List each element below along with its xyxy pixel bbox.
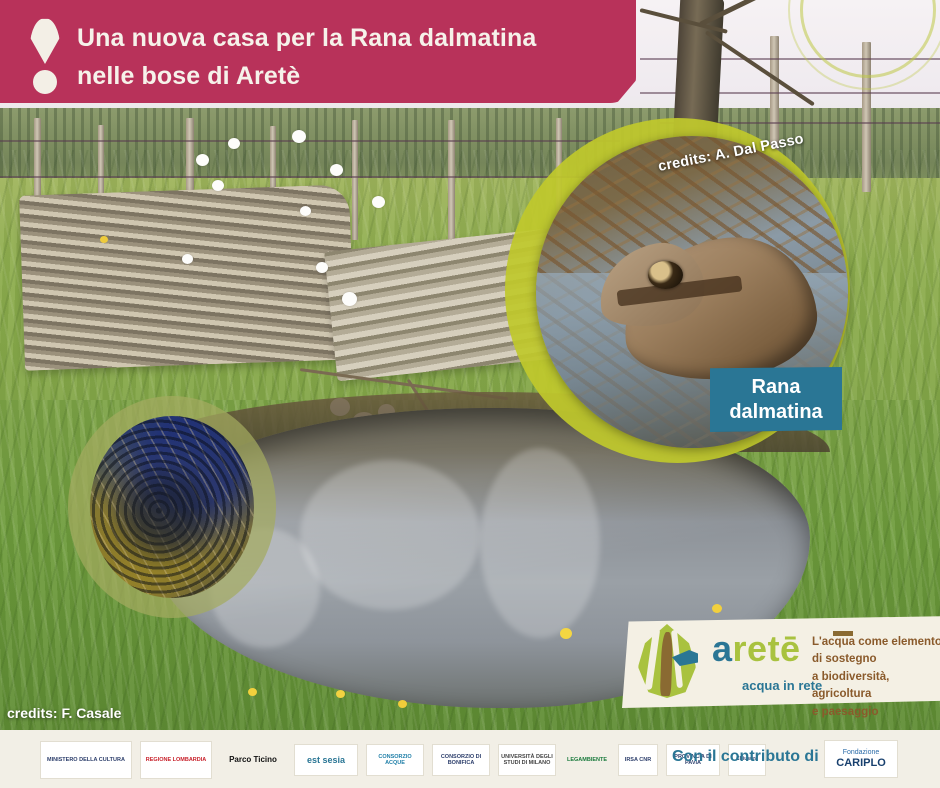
cherry-blossom [292, 130, 306, 143]
partner-logo: CONSORZIO ACQUE [366, 744, 424, 776]
description-line-4: e paesaggio [812, 704, 940, 721]
partner-logo: Parco Ticino [220, 745, 286, 775]
description-line-1: L'acqua come elemento [812, 634, 940, 651]
cherry-blossom [182, 254, 193, 264]
partner-logo-label: CONSORZIO ACQUE [367, 753, 423, 768]
contribution-label: Con il contributo di [672, 748, 819, 766]
dandelion-flower [712, 604, 722, 613]
cherry-blossom [300, 206, 311, 216]
dandelion-flower [398, 700, 407, 708]
partner-logo-label: UNIVERSITÀ DEGLI STUDI DI MILANO [499, 753, 555, 768]
water-reflection [300, 460, 480, 610]
cherry-blossom [228, 138, 240, 149]
vineyard-post [352, 120, 358, 240]
description-line-2: di sostegno [812, 651, 940, 668]
partner-logo-label: REGIONE LOMBARDIA [145, 756, 208, 764]
species-badge-line-2: dalmatina [729, 400, 822, 424]
cherry-blossom [342, 292, 357, 306]
exclamation-dot [33, 70, 57, 94]
dandelion-flower [560, 628, 572, 639]
partner-logo-label: CONSORZIO DI BONIFICA [433, 753, 489, 768]
wordmark-a: a [712, 628, 733, 669]
partner-logo-label: Parco Ticino [228, 754, 278, 765]
poster-root: Una nuova casa per la Rana dalmatina nel… [0, 0, 940, 788]
leaf-trunk-shape [660, 632, 673, 696]
partner-logo-label: MINISTERO DELLA CULTURA [46, 756, 126, 764]
dandelion-flower [336, 690, 345, 698]
partner-logo: UNIVERSITÀ DEGLI STUDI DI MILANO [498, 744, 556, 776]
cherry-blossom [316, 262, 328, 273]
partner-logo-label: IRSA CNR [624, 756, 652, 764]
dandelion-flower [248, 688, 257, 696]
arete-leaf-logo-icon [634, 620, 700, 704]
cherry-blossom [212, 180, 224, 191]
vineyard-post [448, 120, 455, 242]
partner-logo: CONSORZIO DI BONIFICA [432, 744, 490, 776]
frog-eye [648, 261, 682, 289]
title-banner: Una nuova casa per la Rana dalmatina nel… [0, 0, 636, 103]
arete-tagline: acqua in rete [742, 678, 822, 693]
partner-logo: REGIONE LOMBARDIA [140, 741, 212, 779]
fondazione-cariplo-logo: Fondazione CARIPLO [824, 740, 898, 778]
cariplo-line-2: CARIPLO [836, 757, 886, 769]
water-reflection [480, 448, 600, 638]
frog-eggs-inset [68, 396, 276, 618]
partner-logo: MINISTERO DELLA CULTURA [40, 741, 132, 779]
exclamation-stem [30, 18, 60, 64]
exclamation-mark-icon [30, 18, 60, 90]
page-title: Una nuova casa per la Rana dalmatina nel… [77, 19, 622, 95]
cherry-blossom [330, 164, 343, 176]
description-line-3: a biodiversità, agricoltura [812, 669, 940, 704]
cariplo-line-1: Fondazione [836, 749, 886, 757]
partner-logo-label: LEGAMBIENTE [566, 756, 608, 764]
species-badge-line-1: Rana [752, 375, 801, 399]
arete-wordmark: aretē [712, 628, 801, 670]
partner-logo: IRSA CNR [618, 744, 658, 776]
wordmark-rete: retē [733, 628, 801, 669]
cherry-blossom [372, 196, 385, 208]
cherry-blossom [196, 154, 209, 166]
frog-eggs-photograph [90, 416, 254, 598]
partner-logo-strip: MINISTERO DELLA CULTURA REGIONE LOMBARDI… [40, 740, 766, 780]
main-photo-credits: credits: F. Casale [7, 705, 121, 721]
eggs-texture [90, 416, 254, 598]
dandelion-flower [100, 236, 108, 243]
title-line-2: nelle bose di Aretè [77, 57, 622, 95]
arete-description: L'acqua come elemento di sostegno a biod… [812, 634, 940, 721]
partner-logo: LEGAMBIENTE [564, 745, 610, 775]
partner-logo-label: est sesia [306, 754, 346, 766]
partner-logo: est sesia [294, 744, 358, 776]
species-name-badge: Rana dalmatina [710, 367, 842, 432]
title-line-1: Una nuova casa per la Rana dalmatina [77, 19, 622, 57]
